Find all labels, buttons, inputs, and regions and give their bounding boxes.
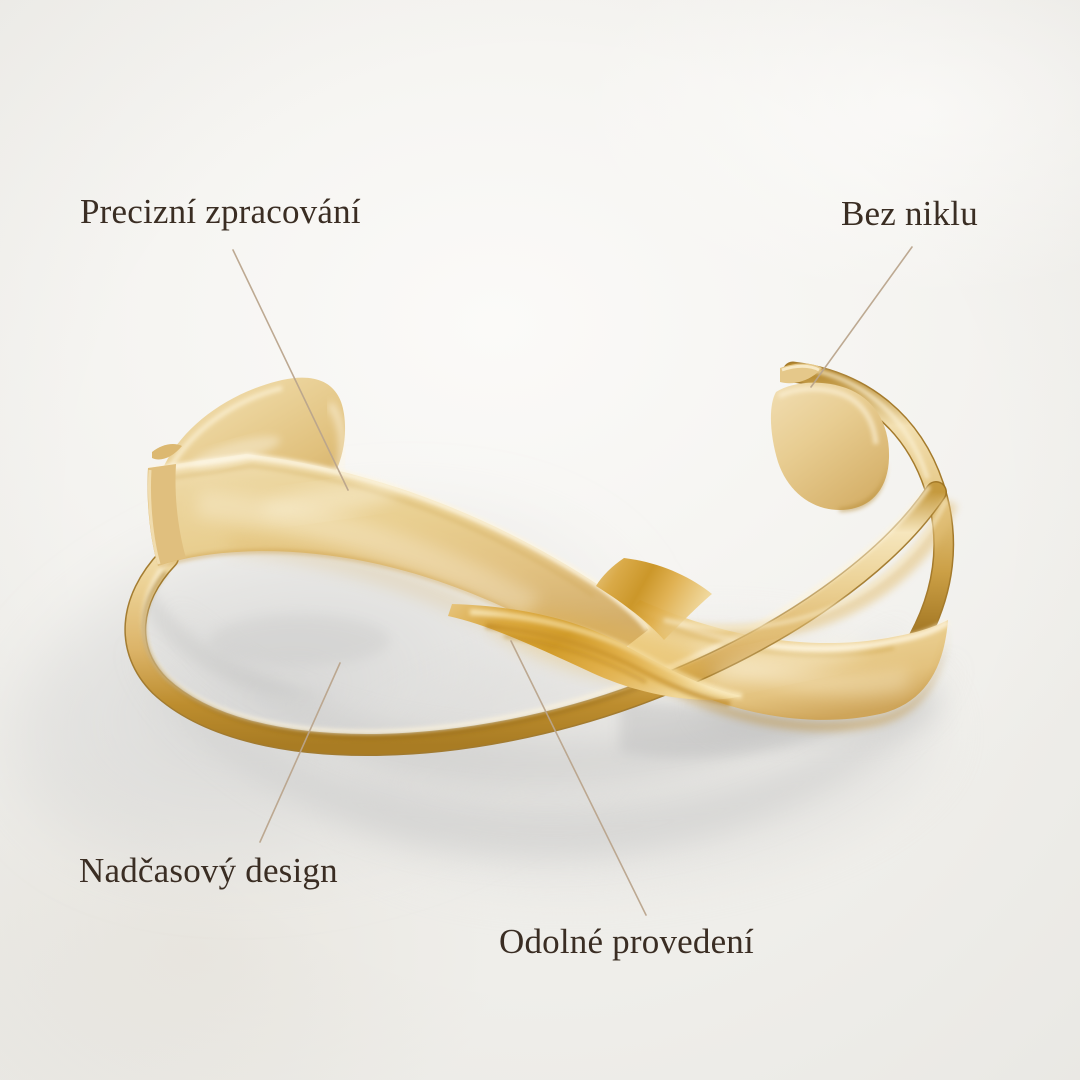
leader-line-precision: [233, 250, 348, 490]
annotation-label-design: Nadčasový design: [79, 853, 338, 890]
leader-lines-layer: [0, 0, 1080, 1080]
leader-line-nickel: [811, 247, 912, 387]
annotation-label-durable: Odolné provedení: [499, 924, 754, 961]
leader-line-design: [260, 663, 340, 842]
annotation-label-nickel: Bez niklu: [841, 196, 978, 233]
leader-line-durable: [511, 641, 646, 915]
annotation-label-precision: Precizní zpracování: [80, 194, 361, 231]
product-annotation-image: Precizní zpracování Bez niklu Nadčasový …: [0, 0, 1080, 1080]
